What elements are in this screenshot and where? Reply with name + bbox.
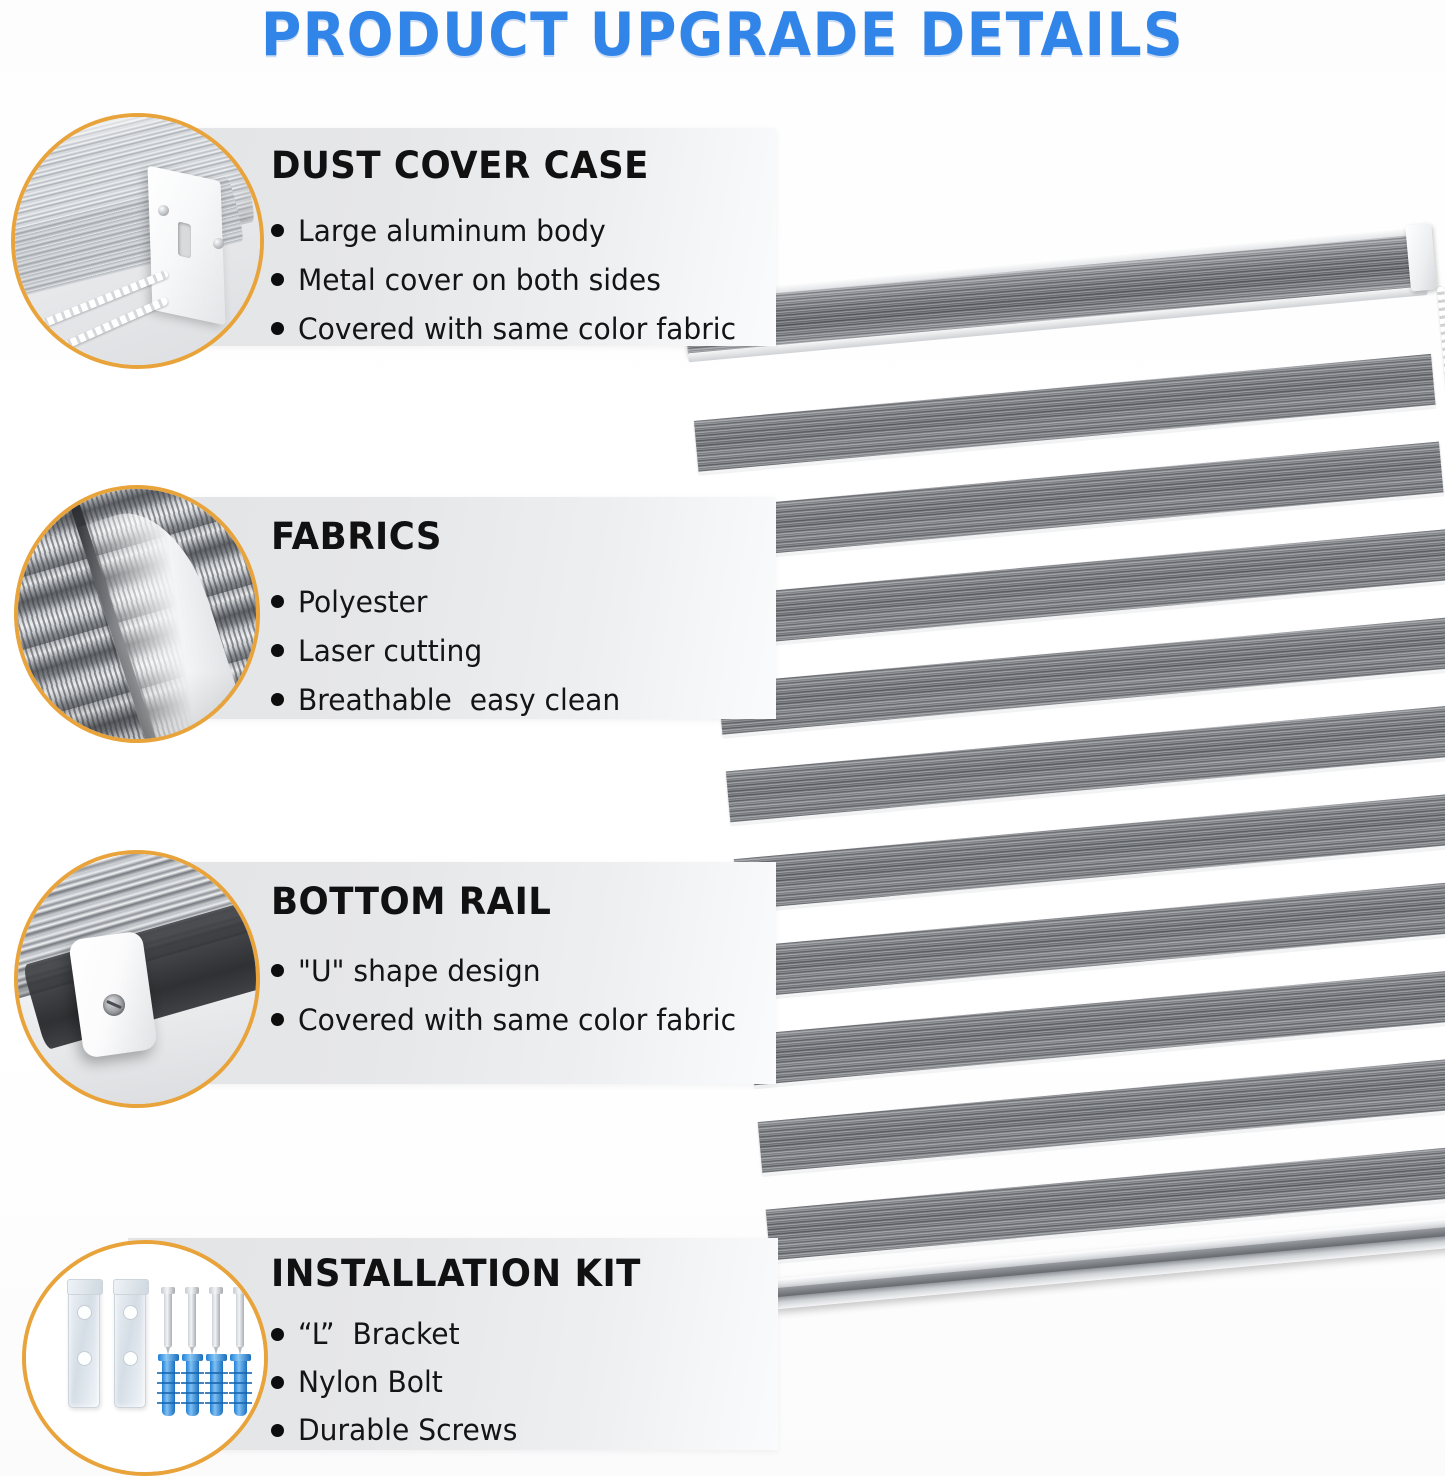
bullet-text: "U" shape design [298,954,541,988]
bullet-dot-icon [271,1328,284,1341]
headrail-end-cap [1405,223,1437,291]
panel-heading: BOTTOM RAIL [271,880,551,923]
nylon-anchor-icon [162,1358,175,1416]
panel-heading: DUST COVER CASE [271,144,649,187]
screw-icon [236,1292,244,1348]
bullet-dot-icon [271,273,284,286]
bullet-text: Large aluminum body [298,214,606,248]
bullet-item: Laser cutting [271,626,630,675]
bullet-dot-icon [271,595,284,608]
photo-bottom-rail-endcap [14,850,260,1108]
bullet-text: Nylon Bolt [298,1365,443,1399]
bullet-dot-icon [271,224,284,237]
bullet-text: Polyester [298,585,428,619]
screw-icon [164,1292,172,1348]
photo-aluminum-headrail [11,113,264,369]
bullet-item: “L” Bracket [271,1310,524,1358]
nylon-anchor-icon [210,1358,223,1416]
bullet-text: “L” Bracket [298,1317,460,1351]
screw-icon [188,1292,196,1348]
bullet-item: Breathable easy clean [271,675,630,724]
bullet-item: Covered with same color fabric [271,995,750,1044]
bullet-text: Covered with same color fabric [298,312,736,346]
bullet-item: Large aluminum body [271,206,750,255]
nylon-anchor-icon [234,1358,247,1416]
bullet-text: Covered with same color fabric [298,1003,736,1037]
bullet-dot-icon [271,644,284,657]
bullet-item: Durable Screws [271,1406,524,1454]
photo-zebra-fabric-roll [14,485,260,743]
bullet-dot-icon [271,1013,284,1026]
bullet-text: Durable Screws [298,1413,517,1447]
bullet-text: Breathable easy clean [298,683,620,717]
panel-heading: INSTALLATION KIT [271,1252,641,1295]
bullet-dot-icon [271,322,284,335]
bullet-text: Metal cover on both sides [298,263,661,297]
screw-icon [212,1292,220,1348]
bullet-item: Metal cover on both sides [271,255,750,304]
bullet-dot-icon [271,1424,284,1437]
infographic-canvas: PRODUCT UPGRADE DETAILS DUST COVER CASE … [0,0,1445,1476]
bullet-item: Covered with same color fabric [271,304,750,353]
bullet-item: "U" shape design [271,946,750,995]
page-title: PRODUCT UPGRADE DETAILS [58,2,1387,70]
bullet-text: Laser cutting [298,634,482,668]
l-bracket-icon [114,1288,146,1408]
bullet-dot-icon [271,693,284,706]
product-image-zebra-blind [672,108,1445,1295]
nylon-anchor-icon [186,1358,199,1416]
bullet-dot-icon [271,1376,284,1389]
photo-installation-hardware [22,1240,268,1476]
blind-headrail [683,232,1427,355]
bullet-item: Nylon Bolt [271,1358,524,1406]
bullet-item: Polyester [271,577,630,626]
l-bracket-icon [68,1288,100,1408]
bullet-dot-icon [271,964,284,977]
panel-heading: FABRICS [271,515,442,558]
